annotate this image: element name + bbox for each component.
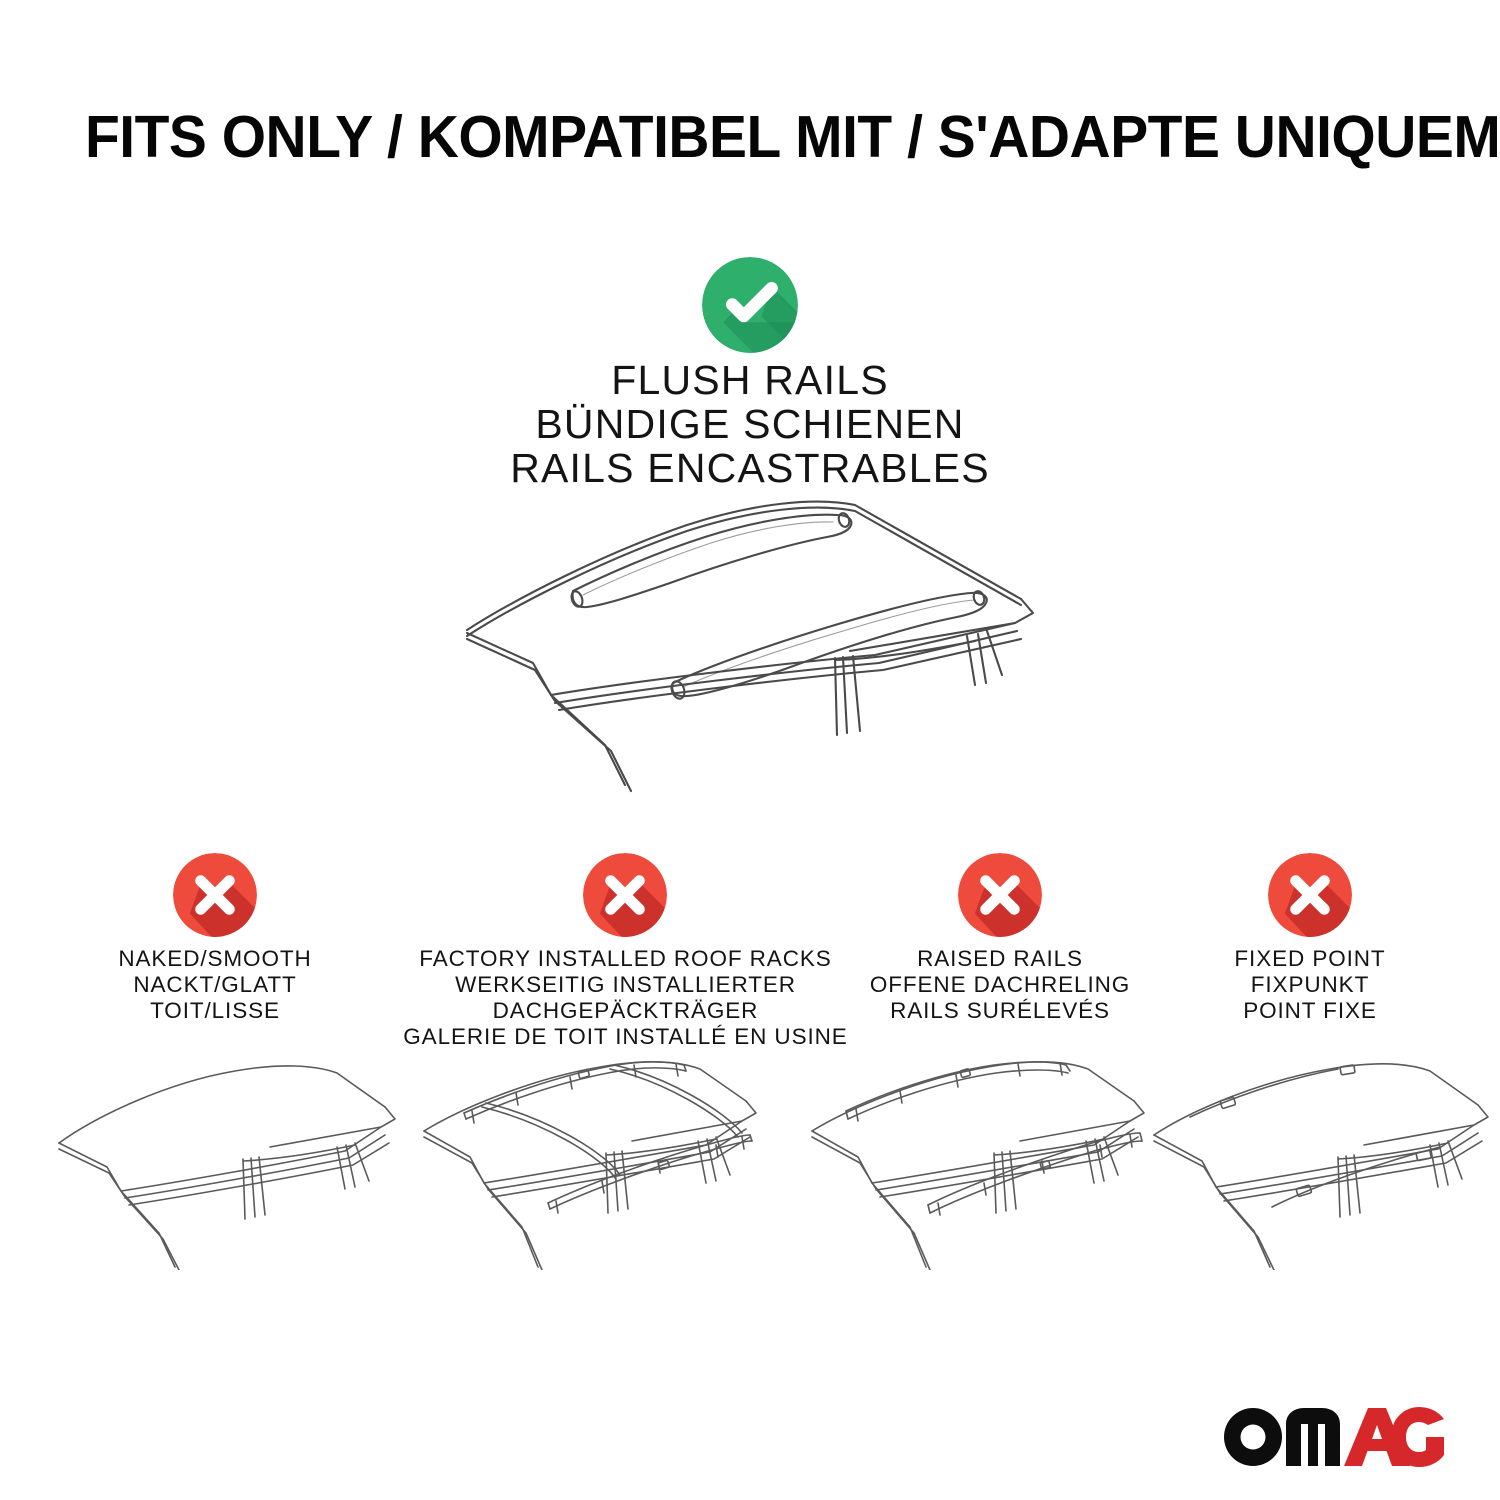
incompatible-line-fr: RAILS SURÉLEVÉS (845, 998, 1155, 1024)
car-roof-naked-smooth-illustration (55, 1055, 430, 1270)
x-circle-icon (958, 853, 1042, 937)
incompatible-line-fr: GALERIE DE TOIT INSTALLÉ EN USINE (398, 1024, 853, 1050)
incompatible-line-fr: POINT FIXE (1160, 998, 1460, 1024)
car-roof-fixed-point-illustration (1150, 1055, 1500, 1270)
incompatible-line-en: RAISED RAILS (845, 946, 1155, 972)
x-circle-icon (173, 853, 257, 937)
logo-letter-m (1286, 1408, 1340, 1466)
incompatible-line-de: NACKT/GLATT (35, 972, 395, 998)
compatible-line-en: FLUSH RAILS (250, 358, 1250, 402)
check-circle-icon (702, 257, 798, 353)
omac-logo (1222, 1406, 1444, 1468)
car-roof-with-flush-rails-illustration (455, 495, 1055, 795)
compatible-line-de: BÜNDIGE SCHIENEN (250, 402, 1250, 446)
incompatible-caption-factory-roof-racks: FACTORY INSTALLED ROOF RACKS WERKSEITIG … (398, 946, 853, 1050)
logo-letter-o (1224, 1408, 1282, 1466)
incompatible-line-de: OFFENE DACHRELING (845, 972, 1155, 998)
incompatible-line-fr: TOIT/LISSE (35, 998, 395, 1024)
incompatible-caption-raised-rails: RAISED RAILS OFFENE DACHRELING RAILS SUR… (845, 946, 1155, 1024)
x-circle-icon (1268, 853, 1352, 937)
car-roof-raised-rails-illustration (808, 1055, 1183, 1270)
infographic-page: FITS ONLY / KOMPATIBEL MIT / S'ADAPTE UN… (0, 0, 1500, 1500)
incompatible-line-en: FACTORY INSTALLED ROOF RACKS (398, 946, 853, 972)
incompatible-line-en: FIXED POINT (1160, 946, 1460, 972)
incompatible-caption-fixed-point: FIXED POINT FIXPUNKT POINT FIXE (1160, 946, 1460, 1024)
car-roof-factory-installed-roof-racks-illustration (420, 1055, 795, 1270)
compatible-caption: FLUSH RAILS BÜNDIGE SCHIENEN RAILS ENCAS… (250, 358, 1250, 490)
compatible-line-fr: RAILS ENCASTRABLES (250, 446, 1250, 490)
logo-letter-c (1391, 1407, 1444, 1467)
incompatible-line-de-1: WERKSEITIG INSTALLIERTER (398, 972, 853, 998)
incompatible-line-de: FIXPUNKT (1160, 972, 1460, 998)
page-title: FITS ONLY / KOMPATIBEL MIT / S'ADAPTE UN… (85, 105, 1378, 169)
incompatible-line-de-2: DACHGEPÄCKTRÄGER (398, 998, 853, 1024)
incompatible-line-en: NAKED/SMOOTH (35, 946, 395, 972)
x-circle-icon (583, 853, 667, 937)
incompatible-caption-naked-smooth: NAKED/SMOOTH NACKT/GLATT TOIT/LISSE (35, 946, 395, 1024)
